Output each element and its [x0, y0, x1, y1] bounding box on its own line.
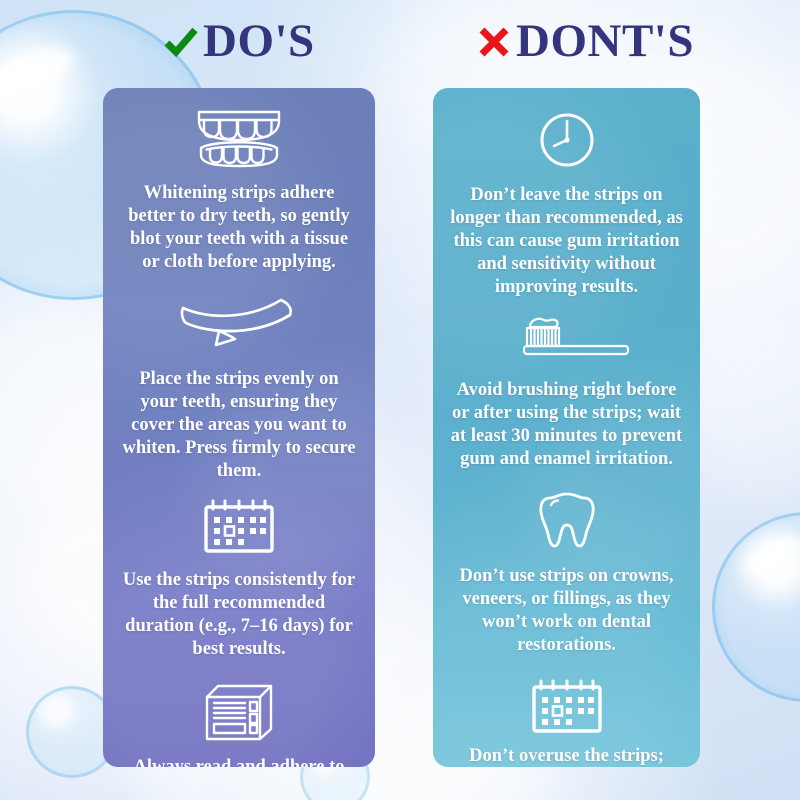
clock-icon	[537, 110, 597, 170]
tip-text: Place the strips evenly on your teeth, e…	[119, 368, 359, 483]
tip-item: Whitening strips adhere better to dry te…	[119, 108, 359, 274]
teeth-icon	[193, 108, 285, 170]
donts-panel: Don’t leave the strips on longer than re…	[433, 88, 700, 767]
tip-item: Always read and adhere to the manufactur…	[119, 681, 359, 767]
cross-icon	[476, 24, 512, 60]
tip-item: Don’t use strips on crowns, veneers, or …	[449, 489, 684, 657]
tip-text: Don’t use strips on crowns, veneers, or …	[449, 565, 684, 657]
heading-donts: DONT'S	[476, 18, 694, 65]
infographic-canvas: DO'S DONT'S	[0, 0, 800, 800]
toothbrush-icon	[502, 315, 632, 365]
tip-text: Don’t overuse the strips; stick to the r…	[449, 745, 684, 767]
tip-text: Whitening strips adhere better to dry te…	[119, 182, 359, 274]
package-box-icon	[203, 681, 275, 743]
tip-text: Always read and adhere to the manufactur…	[119, 756, 359, 767]
heading-dos: DO'S	[163, 18, 315, 65]
tip-item: Don’t overuse the strips; stick to the r…	[449, 677, 684, 767]
bubble-highlight	[40, 694, 73, 719]
tip-text: Avoid brushing right before or after usi…	[449, 379, 684, 471]
headings-row: DO'S DONT'S	[0, 18, 800, 80]
whitening-strip-icon	[178, 296, 300, 350]
heading-dos-label: DO'S	[203, 18, 315, 65]
tip-item: Use the strips consistently for the full…	[119, 497, 359, 661]
calendar-icon	[201, 497, 277, 555]
tooth-icon	[536, 489, 598, 551]
dos-panel: Whitening strips adhere better to dry te…	[103, 88, 375, 767]
check-icon	[163, 24, 199, 60]
tip-item: Avoid brushing right before or after usi…	[449, 315, 684, 471]
tip-item: Don’t leave the strips on longer than re…	[449, 110, 684, 299]
tip-item: Place the strips evenly on your teeth, e…	[119, 296, 359, 483]
heading-donts-label: DONT'S	[516, 18, 694, 65]
tip-text: Use the strips consistently for the full…	[119, 569, 359, 661]
calendar-icon	[529, 677, 605, 735]
bubble-highlight	[739, 530, 800, 582]
tip-text: Don’t leave the strips on longer than re…	[449, 184, 684, 299]
